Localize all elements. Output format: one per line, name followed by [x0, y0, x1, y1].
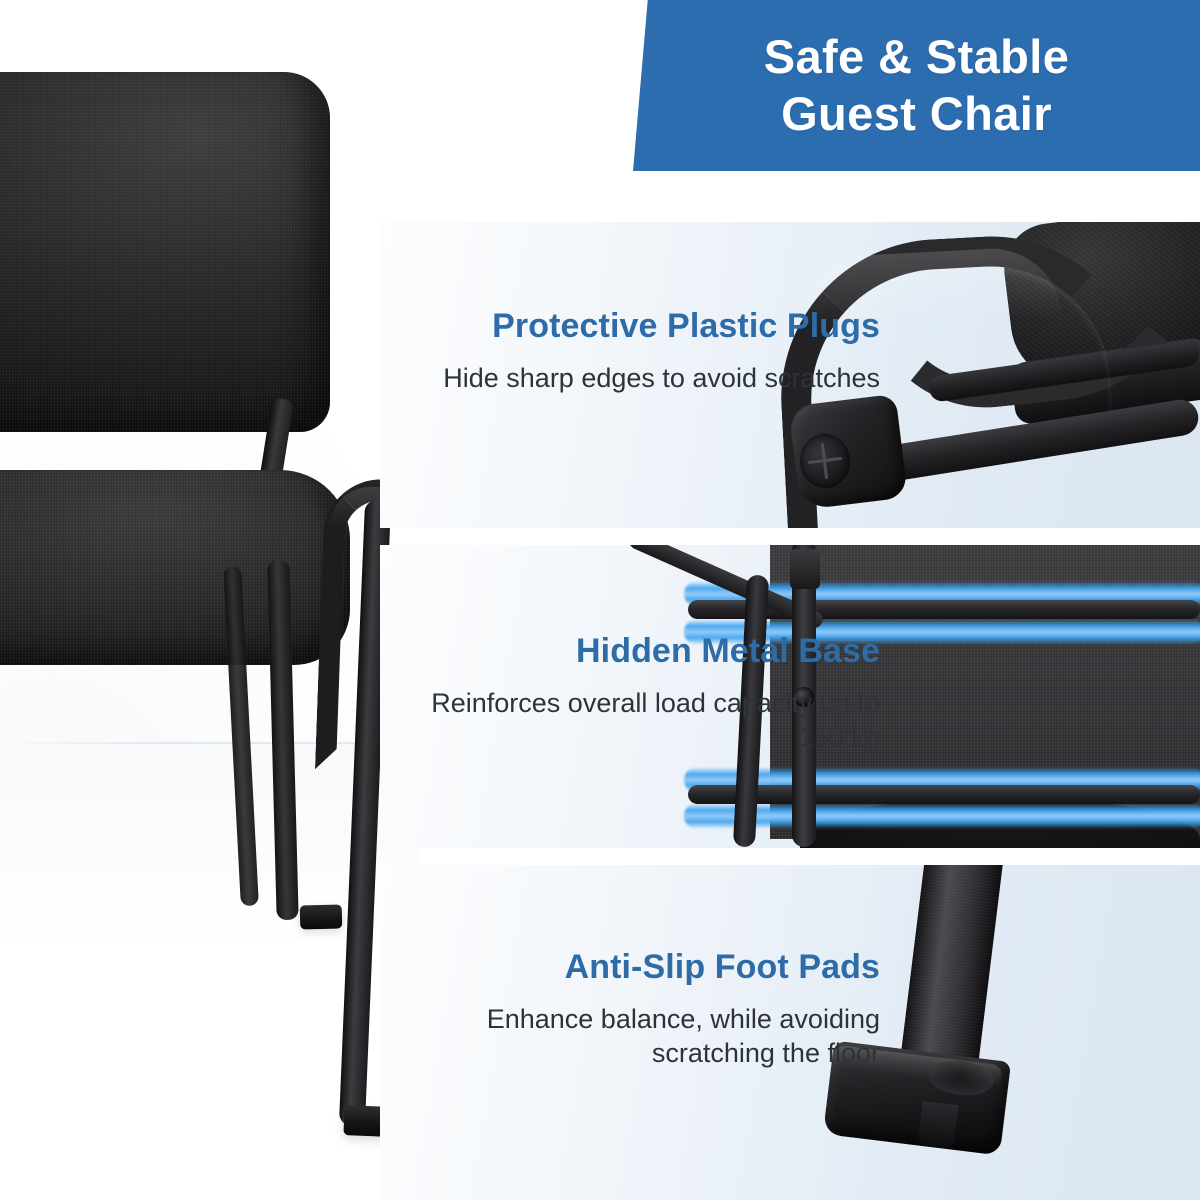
banner-title-line-2: Guest Chair [781, 87, 1052, 142]
feature-panel-foot-pads: Anti-Slip Foot Pads Enhance balance, whi… [380, 865, 1200, 1200]
feature-1-title: Protective Plastic Plugs [380, 308, 880, 345]
feature-2-title: Hidden Metal Base [380, 633, 880, 670]
foot-pad-notch [917, 1101, 958, 1149]
feature-1-copy: Protective Plastic Plugs Hide sharp edge… [380, 308, 880, 395]
header-banner-text: Safe & Stable Guest Chair [633, 0, 1200, 171]
chair-rear-foot-pad [300, 904, 343, 929]
feature-panel-plastic-plugs: Protective Plastic Plugs Hide sharp edge… [380, 222, 1200, 528]
feature-1-description: Hide sharp edges to avoid scratches [380, 361, 880, 395]
infographic-canvas: Safe & Stable Guest Chair Protective Pla… [0, 0, 1200, 1200]
banner-title-line-1: Safe & Stable [764, 30, 1070, 85]
hero-product-photo [0, 0, 420, 1200]
feature-3-title: Anti-Slip Foot Pads [380, 949, 880, 986]
feature-panel-metal-base: Hidden Metal Base Reinforces overall loa… [380, 545, 1200, 848]
metal-support-bar-bottom [688, 785, 1200, 804]
chair-backrest [0, 72, 330, 432]
feature-3-description: Enhance balance, while avoiding scratchi… [380, 1002, 880, 1070]
feature-2-description: Reinforces overall load capacity up to 1… [380, 686, 880, 754]
header-banner: Safe & Stable Guest Chair [633, 0, 1200, 171]
feature-2-copy: Hidden Metal Base Reinforces overall loa… [380, 633, 880, 754]
frame-mounting-bracket [790, 549, 820, 589]
chair-seat-cushion [0, 470, 350, 665]
feature-3-copy: Anti-Slip Foot Pads Enhance balance, whi… [380, 949, 880, 1070]
